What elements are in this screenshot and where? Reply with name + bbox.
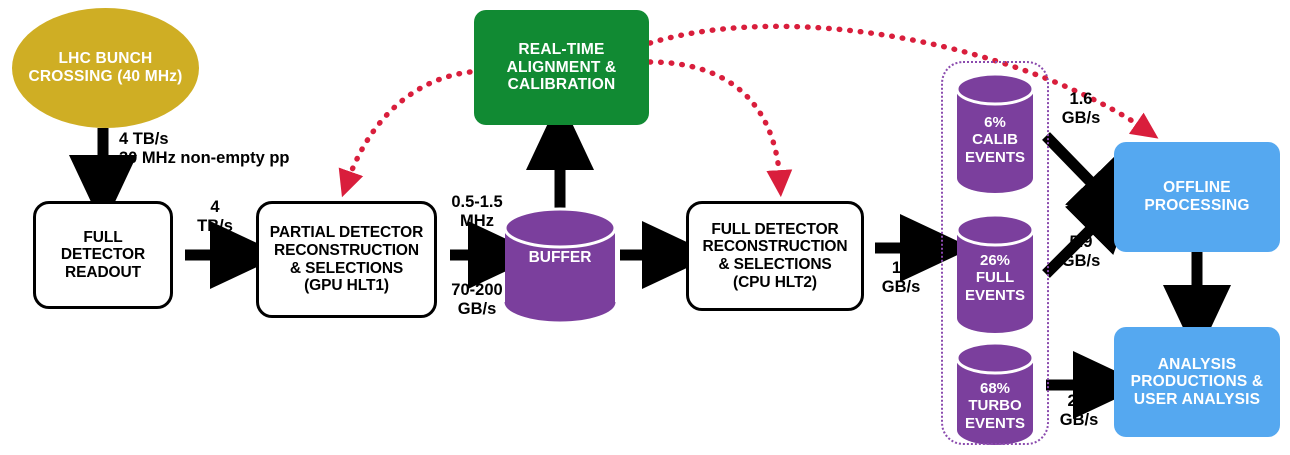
rate-calib-to-offline: 1.6 GB/s (1050, 90, 1112, 129)
node-analysis-productions[interactable]: ANALYSIS PRODUCTIONS & USER ANALYSIS (1114, 327, 1280, 437)
rate-full-to-offline: 5.9 GB/s (1050, 233, 1112, 272)
node-partial-detector-reconstruction[interactable]: PARTIAL DETECTOR RECONSTRUCTION & SELECT… (256, 201, 437, 318)
node-offline-processing[interactable]: OFFLINE PROCESSING (1114, 142, 1280, 252)
rate-hlt1-to-buffer-frequency: 0.5-1.5 MHz (441, 193, 513, 232)
rate-readout-to-hlt1: 4 TB/s (186, 198, 244, 237)
node-realtime-alignment-calibration[interactable]: REAL-TIME ALIGNMENT & CALIBRATION (474, 10, 649, 125)
rate-turbo-to-analysis: 2.5 GB/s (1048, 392, 1110, 431)
feedback-alignment-to-hlt2 (650, 62, 780, 182)
rate-bunch-to-readout: 4 TB/s 30 MHz non-empty pp (119, 130, 349, 169)
feedback-alignment-to-hlt1 (347, 72, 470, 183)
node-lhc-bunch-crossing[interactable]: LHC BUNCH CROSSING (40 MHz) (12, 8, 199, 128)
rate-hlt1-to-buffer-bandwidth: 70-200 GB/s (441, 281, 513, 320)
node-full-detector-readout[interactable]: FULL DETECTOR READOUT (33, 201, 173, 309)
rate-hlt2-to-storage: 10 GB/s (866, 259, 936, 298)
diagram-canvas: LHC BUNCH CROSSING (40 MHz) FULL DETECTO… (0, 0, 1290, 455)
node-full-detector-reconstruction[interactable]: FULL DETECTOR RECONSTRUCTION & SELECTION… (686, 201, 864, 311)
arrow-calib-to-offline (1046, 136, 1114, 206)
node-buffer-label: BUFFER (505, 238, 615, 278)
storage-group-frame (941, 61, 1049, 445)
